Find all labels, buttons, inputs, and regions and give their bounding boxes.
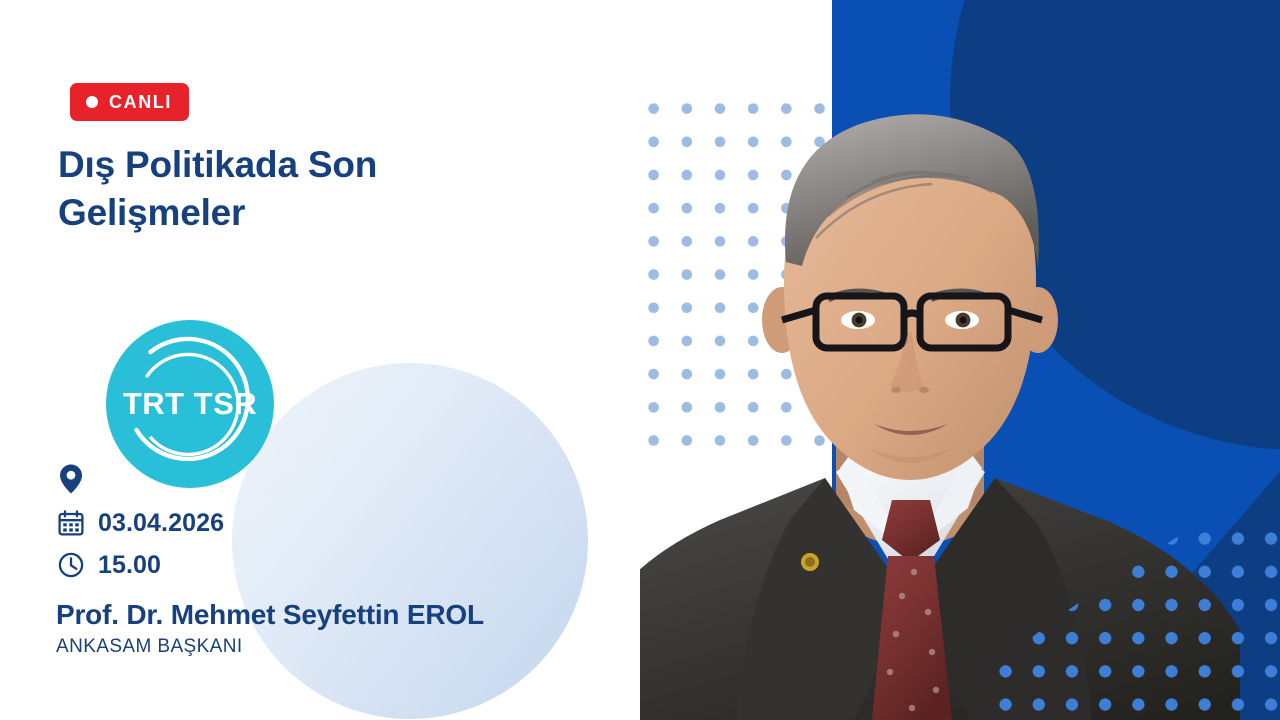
speaker-role: ANKASAM BAŞKANI xyxy=(56,636,636,659)
logo-text: TRT TSR xyxy=(123,386,257,421)
program-title: Dış Politikada Son Gelişmeler xyxy=(58,141,578,237)
event-meta-list: 03.04.2026 15.00 xyxy=(56,456,616,586)
speaker-name: Prof. Dr. Mehmet Seyfettin EROL xyxy=(56,598,636,632)
calendar-icon xyxy=(56,508,86,538)
live-broadcast-banner: CANLI Dış Politikada Son Gelişmeler TRT … xyxy=(0,0,1280,720)
speaker-block: Prof. Dr. Mehmet Seyfettin EROL ANKASAM … xyxy=(56,598,636,658)
live-status-badge: CANLI xyxy=(70,83,189,121)
live-dot-icon xyxy=(86,96,98,108)
meta-time-value: 15.00 xyxy=(98,553,161,578)
banner-content: CANLI Dış Politikada Son Gelişmeler TRT … xyxy=(0,0,640,720)
dark-blue-circle-shape xyxy=(950,0,1280,450)
clock-icon xyxy=(56,550,86,580)
meta-date-value: 03.04.2026 xyxy=(98,511,224,536)
location-pin-icon xyxy=(56,464,86,494)
meta-row-location xyxy=(56,456,616,502)
program-title-line-1: Dış Politikada Son xyxy=(58,144,377,185)
program-title-line-2: Gelişmeler xyxy=(58,192,245,233)
meta-row-time: 15.00 xyxy=(56,544,616,586)
meta-row-date: 03.04.2026 xyxy=(56,502,616,544)
dot-grid-pattern-left xyxy=(637,92,833,460)
live-badge-label: CANLI xyxy=(109,93,172,111)
